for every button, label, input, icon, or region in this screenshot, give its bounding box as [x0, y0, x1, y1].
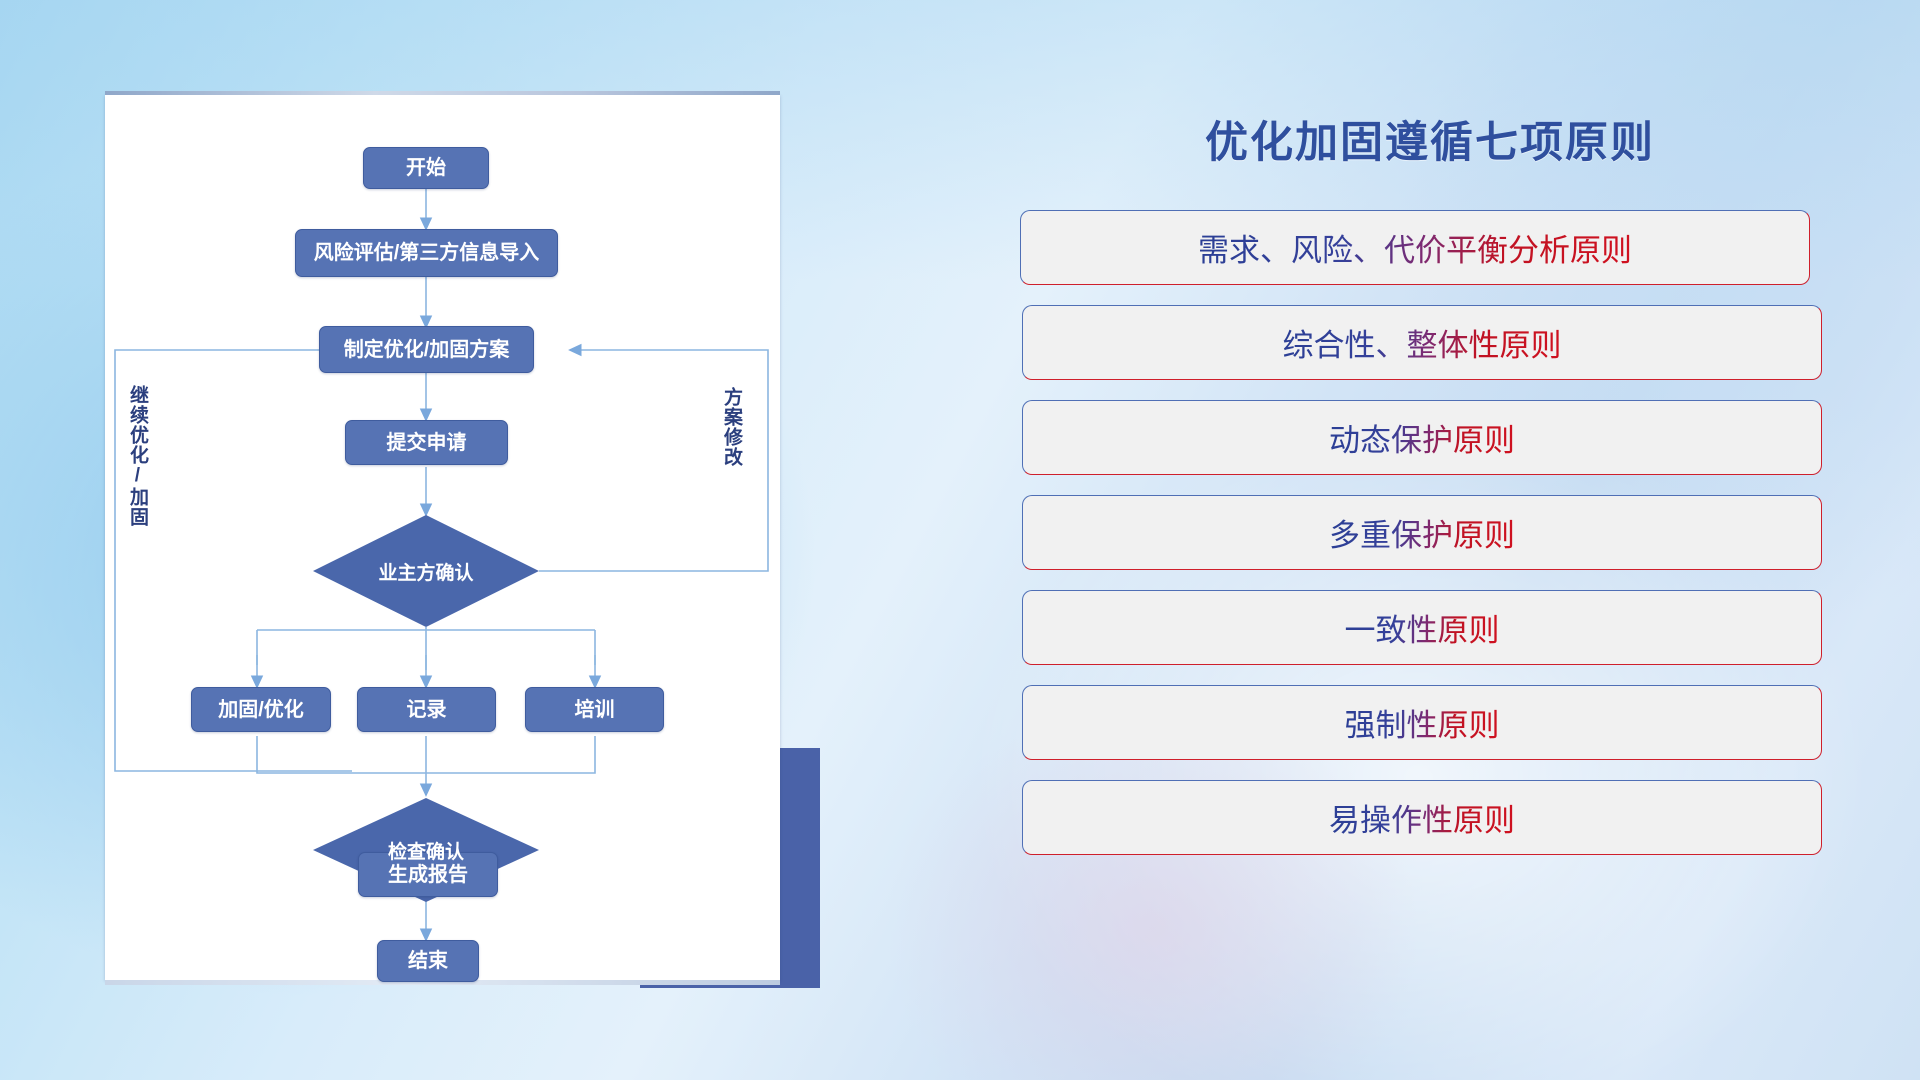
- principle-item-1[interactable]: 需求、风险、代价平衡分析原则: [1020, 210, 1810, 285]
- flow-node-plan[interactable]: 制定优化/加固方案: [319, 326, 534, 373]
- flow-decision-owner-confirm[interactable]: 业主方确认: [313, 515, 539, 627]
- principle-item-3-label: 动态保护原则: [1329, 415, 1515, 460]
- principle-item-7[interactable]: 易操作性原则: [1022, 780, 1822, 855]
- principle-item-3[interactable]: 动态保护原则: [1022, 400, 1822, 475]
- principles-list: 需求、风险、代价平衡分析原则 综合性、整体性原则 动态保护原则 多重保护原则 一…: [1020, 210, 1840, 875]
- flow-node-submit-label: 提交申请: [387, 432, 467, 454]
- flowchart-card: 开始 风险评估/第三方信息导入 制定优化/加固方案 提交申请 业主方确认 加固/…: [105, 95, 780, 980]
- flow-node-reinforce[interactable]: 加固/优化: [191, 687, 331, 732]
- flow-node-plan-label: 制定优化/加固方案: [344, 339, 510, 361]
- principle-item-4-label: 多重保护原则: [1329, 510, 1515, 555]
- flow-node-report-label: 生成报告: [388, 864, 468, 886]
- principle-item-1-label: 需求、风险、代价平衡分析原则: [1198, 225, 1632, 270]
- flow-node-risk-assessment-label: 风险评估/第三方信息导入: [314, 242, 540, 264]
- flow-node-start[interactable]: 开始: [363, 147, 489, 189]
- principle-item-2-label: 综合性、整体性原则: [1283, 320, 1562, 365]
- principle-item-5-label: 一致性原则: [1345, 605, 1500, 650]
- principle-item-4[interactable]: 多重保护原则: [1022, 495, 1822, 570]
- principle-item-6-label: 强制性原则: [1345, 700, 1500, 745]
- flow-node-reinforce-label: 加固/优化: [218, 699, 304, 721]
- flow-node-start-label: 开始: [406, 157, 446, 179]
- flow-node-record[interactable]: 记录: [357, 687, 496, 732]
- flow-node-end[interactable]: 结束: [377, 940, 479, 982]
- flow-decision-inspection-label: 检查确认: [388, 837, 464, 864]
- flow-node-submit[interactable]: 提交申请: [345, 420, 508, 465]
- principles-panel: 优化加固遵循七项原则 需求、风险、代价平衡分析原则 综合性、整体性原则 动态保护…: [1020, 90, 1840, 1020]
- flow-decision-owner-confirm-label: 业主方确认: [378, 558, 473, 585]
- flow-edge-label-plan-revision: 方案修改: [721, 387, 741, 467]
- principle-item-5[interactable]: 一致性原则: [1022, 590, 1822, 665]
- flow-edge-label-continue-optimize: 继续优化/加固: [127, 385, 147, 527]
- flow-node-end-label: 结束: [408, 950, 448, 972]
- panel-title: 优化加固遵循七项原则: [1150, 108, 1710, 170]
- principle-item-7-label: 易操作性原则: [1329, 795, 1515, 840]
- flow-node-training[interactable]: 培训: [525, 687, 664, 732]
- principle-item-6[interactable]: 强制性原则: [1022, 685, 1822, 760]
- principle-item-2[interactable]: 综合性、整体性原则: [1022, 305, 1822, 380]
- flow-node-record-label: 记录: [407, 699, 447, 721]
- flow-node-risk-assessment[interactable]: 风险评估/第三方信息导入: [295, 229, 558, 277]
- flow-node-training-label: 培训: [575, 699, 615, 721]
